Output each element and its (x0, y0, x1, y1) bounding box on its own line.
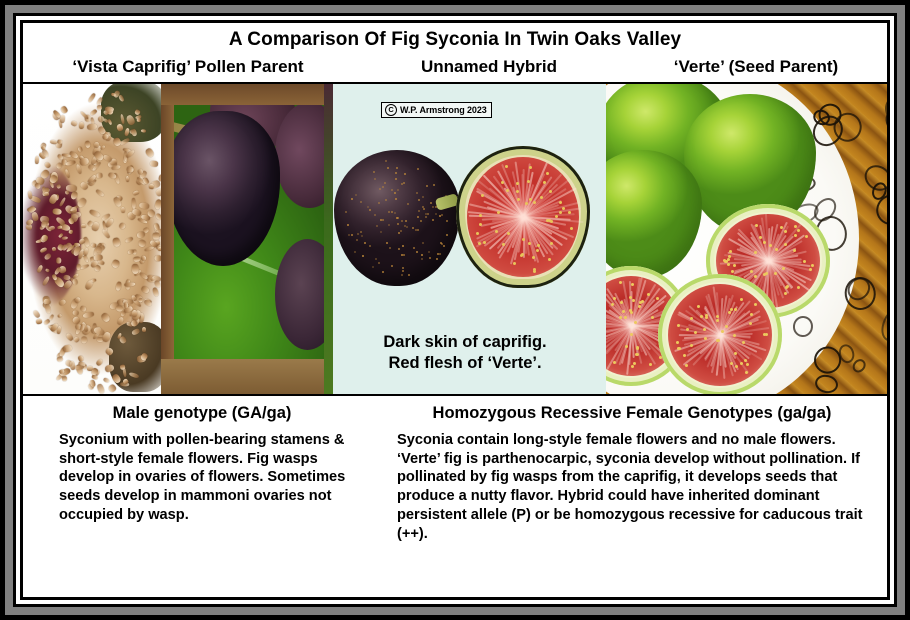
fig-seed (649, 363, 652, 366)
fig-seed (619, 281, 622, 284)
caprifig-floret (144, 147, 155, 159)
caprifig-floret (121, 207, 126, 213)
male-genotype-heading: Male genotype (GA/ga) (31, 404, 373, 431)
hybrid-fig-speck (402, 245, 404, 247)
fig-seed (797, 286, 800, 289)
hybrid-fig-speck (418, 210, 420, 212)
fig-seed (631, 365, 634, 368)
hybrid-fig-speck (406, 226, 408, 228)
caprifig-floret (72, 310, 79, 316)
caprifig-floret (32, 310, 41, 319)
fig-seed (537, 244, 540, 247)
fig-seed (481, 194, 484, 197)
hybrid-fig-speck (425, 216, 427, 218)
caprifig-floret (81, 224, 86, 228)
caprifig-floret (102, 377, 110, 384)
caprifig-floret (35, 156, 39, 164)
hybrid-fig-speck (402, 267, 404, 269)
caprifig-floret (80, 305, 87, 312)
fig-seed (730, 308, 733, 311)
fig-seed (697, 305, 700, 308)
fig-seed (728, 311, 731, 314)
caprifig-floret (83, 248, 89, 256)
male-genotype-column: Male genotype (GA/ga) Syconium with poll… (23, 404, 383, 597)
caprifig-floret (96, 384, 105, 394)
caprifig-floret (79, 122, 84, 129)
hybrid-fig-speck (378, 262, 380, 264)
caprifig-floret (82, 312, 93, 319)
hybrid-fig-speck (415, 229, 417, 231)
caprifig-floret (64, 169, 70, 179)
fig-seed (629, 296, 632, 299)
fig-seed (479, 214, 482, 217)
hybrid-fig-speck (407, 203, 409, 205)
hybrid-fig-speck (387, 167, 389, 169)
poster-outer-frame: A Comparison Of Fig Syconia In Twin Oaks… (0, 0, 910, 620)
caprifig-floret (138, 298, 142, 303)
fig-seed (529, 166, 532, 169)
hybrid-fig-speck (384, 182, 386, 184)
hybrid-fig-speck (446, 220, 448, 222)
caprifig-floret (39, 246, 47, 253)
caprifig-floret (89, 380, 95, 388)
hybrid-fig-speck (420, 220, 422, 222)
fig-seed (734, 308, 737, 311)
caprifig-floret (123, 302, 128, 308)
fig-seed (638, 305, 641, 308)
fig-seed (746, 363, 749, 366)
hybrid-fig-speck (423, 208, 425, 210)
caprifig-floret (90, 109, 98, 116)
caprifig-floret (43, 191, 48, 196)
hybrid-fig-speck (389, 247, 391, 249)
caprifig-floret (49, 225, 56, 231)
hybrid-fig-speck (395, 172, 397, 174)
fig-seed (555, 215, 558, 218)
fig-seed (686, 328, 689, 331)
hybrid-fig-speck (446, 234, 448, 236)
caprifig-floret (149, 184, 155, 190)
caprifig-floret (43, 161, 51, 169)
genotype-description-row: Male genotype (GA/ga) Syconium with poll… (23, 396, 887, 597)
caprifig-floret (96, 173, 102, 178)
fig-seed (811, 264, 814, 267)
caprifig-floret (100, 312, 111, 323)
hybrid-fig-speck (351, 234, 353, 236)
hybrid-fig-speck (422, 206, 424, 208)
hybrid-fig-speck (385, 199, 387, 201)
caprifig-floret (37, 265, 45, 274)
caprifig-floret (133, 256, 141, 261)
caprifig-floret (112, 237, 121, 247)
hybrid-fig-speck (401, 220, 403, 222)
hybrid-fig-speck (374, 178, 376, 180)
fig-seed (763, 333, 766, 336)
hybrid-fig-speck (397, 223, 399, 225)
fig-seed (755, 224, 758, 227)
hybrid-fig-speck (433, 184, 435, 186)
hybrid-fig-speck (401, 183, 403, 185)
caprifig-floret (68, 150, 79, 160)
caprifig-floret (87, 123, 98, 131)
fig-seed (690, 317, 693, 320)
fig-seed (733, 264, 736, 267)
caprifig-floret (132, 198, 136, 209)
photo-edge-left (161, 84, 174, 394)
fig-seed (476, 232, 479, 235)
fig-seed (529, 198, 532, 201)
hybrid-fig-speck (416, 251, 418, 253)
fig-seed (613, 361, 616, 364)
hybrid-fig-speck (375, 258, 377, 260)
hybrid-fig-speck (422, 242, 424, 244)
fig-seed (631, 283, 634, 286)
fig-seed (620, 301, 623, 304)
hybrid-fig-speck (427, 213, 429, 215)
hybrid-fig-speck (364, 242, 366, 244)
hybrid-fig-speck (380, 231, 382, 233)
caprifig-floret (126, 114, 137, 126)
hybrid-fig-speck (435, 213, 437, 215)
hybrid-fig-speck (360, 231, 362, 233)
hybrid-fig-speck (421, 258, 423, 260)
female-genotype-column: Homozygous Recessive Female Genotypes (g… (383, 404, 887, 597)
copyright-text: W.P. Armstrong 2023 (400, 105, 487, 115)
caprifig-floret (56, 258, 61, 264)
hybrid-fig-speck (391, 265, 393, 267)
caprifig-floret (87, 92, 96, 102)
caprifig-floret (140, 285, 150, 295)
caprifig-floret (116, 124, 124, 133)
fig-seed (528, 242, 531, 245)
caprifig-floret (95, 188, 105, 197)
caprifig-floret (65, 160, 76, 166)
caprifig-floret (35, 318, 42, 324)
hybrid-fig-speck (418, 199, 420, 201)
fig-seed (625, 345, 628, 348)
hybrid-fig-speck (422, 196, 424, 198)
poster-header: A Comparison Of Fig Syconia In Twin Oaks… (23, 23, 887, 82)
hybrid-fig-speck (354, 251, 356, 253)
caprifig-floret (84, 141, 90, 149)
fig-seed (527, 180, 530, 183)
caprifig-floret (72, 278, 78, 285)
fig-seed (727, 263, 730, 266)
hybrid-fig-speck (413, 247, 415, 249)
hybrid-fig-speck (416, 192, 418, 194)
caprifig-floret (78, 147, 84, 153)
copyright-notice: C W.P. Armstrong 2023 (381, 102, 492, 118)
fig-seed (683, 354, 686, 357)
caprifig-floret (131, 328, 140, 336)
caprifig-cutaway-photo (23, 84, 161, 394)
hybrid-red-flesh (467, 157, 579, 277)
hybrid-fig-speck (361, 235, 363, 237)
caprifig-floret (56, 183, 61, 188)
caprifig-floret (103, 117, 109, 122)
hybrid-fig-speck (379, 188, 381, 190)
fig-seed (559, 201, 562, 204)
caprifig-floret (68, 230, 73, 235)
caprifig-floret (129, 371, 140, 378)
hybrid-fig-speck (376, 225, 378, 227)
caprifig-floret (132, 264, 139, 274)
hybrid-fig-speck (417, 168, 419, 170)
column-title-row: ‘Vista Caprifig’ Pollen Parent Unnamed H… (23, 58, 887, 77)
fig-seed (483, 241, 486, 244)
hybrid-caption-line1: Dark skin of caprifig. (324, 332, 606, 353)
hybrid-fig-speck (345, 211, 347, 213)
fig-seed (705, 316, 708, 319)
caprifig-floret (73, 336, 80, 343)
caprifig-floret (61, 375, 67, 381)
poster-gray-frame: A Comparison Of Fig Syconia In Twin Oaks… (5, 5, 905, 615)
fig-seed (516, 182, 519, 185)
hybrid-fig-speck (397, 189, 399, 191)
caprifig-floret (56, 357, 63, 363)
fig-seed (676, 341, 679, 344)
fig-seed (731, 270, 734, 273)
caprifig-floret-layer (23, 84, 161, 394)
hybrid-fig-speck (388, 224, 390, 226)
verte-red-flesh-3 (668, 284, 772, 386)
photo-edge-top (161, 84, 324, 106)
fig-seed (805, 235, 808, 238)
female-genotype-heading: Homozygous Recessive Female Genotypes (g… (389, 404, 875, 431)
hybrid-fig-speck (441, 214, 443, 216)
fig-seed (641, 300, 644, 303)
hybrid-fig-speck (396, 167, 398, 169)
verte-fig-half-3 (658, 274, 782, 394)
hybrid-fig-speck (347, 224, 349, 226)
caprifig-floret (124, 282, 135, 287)
hybrid-fig-speck (378, 202, 380, 204)
caprifig-floret (79, 157, 89, 166)
fig-seed (521, 253, 524, 256)
caprifig-floret (138, 239, 147, 248)
hybrid-fig-speck (430, 202, 432, 204)
caprifig-floret (96, 358, 105, 367)
fig-seed (745, 371, 748, 374)
hybrid-fig-speck (408, 274, 410, 276)
hybrid-fig-speck (428, 251, 430, 253)
hybrid-fig-speck (403, 254, 405, 256)
hybrid-fig-speck (426, 185, 428, 187)
fig-seed (763, 241, 766, 244)
caprifig-floret (81, 335, 87, 343)
caprifig-floret (97, 105, 103, 111)
caprifig-floret (131, 128, 138, 136)
fig-seed (754, 275, 757, 278)
fig-seed (809, 268, 812, 271)
caprifig-floret (125, 237, 134, 244)
caprifig-floret (91, 279, 96, 283)
fig-seed (797, 229, 800, 232)
fig-seed (505, 165, 508, 168)
hybrid-fig-speck (400, 230, 402, 232)
hybrid-fig-speck (437, 253, 439, 255)
hybrid-fig-speck (404, 173, 406, 175)
caprifig-floret (55, 162, 62, 169)
fig-seed (704, 337, 707, 340)
fig-seed (734, 352, 737, 355)
hybrid-fig-speck (432, 219, 434, 221)
caprifig-floret (154, 255, 161, 261)
caprifig-floret (101, 229, 110, 239)
fig-seed (740, 298, 743, 301)
caprifig-floret (132, 310, 137, 317)
fig-seed (724, 260, 727, 263)
caprifig-floret (96, 97, 103, 106)
hybrid-fig-speck (396, 217, 398, 219)
hybrid-fig-speck (386, 242, 388, 244)
fig-seed (733, 334, 736, 337)
hybrid-fig-speck (398, 232, 400, 234)
fig-seed (784, 230, 787, 233)
fig-seed (677, 324, 680, 327)
caprifig-floret (58, 314, 63, 319)
fig-seed (729, 250, 732, 253)
caprifig-floret (107, 383, 117, 392)
hybrid-fig-speck (394, 192, 396, 194)
fig-seed (548, 219, 551, 222)
caprifig-floret (154, 198, 161, 209)
fig-seed (763, 273, 766, 276)
hybrid-fig-speck (403, 182, 405, 184)
fig-seed (536, 249, 539, 252)
poster-inner-black-frame: A Comparison Of Fig Syconia In Twin Oaks… (13, 13, 897, 607)
caprifig-floret (153, 232, 160, 239)
fig-seed (532, 256, 535, 259)
hybrid-fig-speck (395, 178, 397, 180)
caprifig-floret (44, 252, 53, 260)
caprifig-floret (142, 327, 147, 332)
hybrid-fig-speck (369, 245, 371, 247)
hybrid-fig-speck (373, 171, 375, 173)
caprifig-floret (105, 363, 116, 373)
hybrid-fig-speck (348, 234, 350, 236)
caprifig-floret (69, 361, 75, 371)
fig-seed (656, 297, 659, 300)
hybrid-fig-speck (362, 255, 364, 257)
caprifig-floret (118, 94, 125, 102)
hybrid-fig-speck (355, 194, 357, 196)
photo-edge-bottom (161, 359, 324, 393)
hybrid-fig-speck (382, 186, 384, 188)
hybrid-cut-fig (456, 146, 590, 288)
caprifig-on-tree-photo (161, 84, 324, 394)
caprifig-floret (117, 317, 125, 326)
hybrid-fig-speck (439, 253, 441, 255)
hybrid-whole-fig (334, 150, 460, 286)
hybrid-fig-speck (382, 271, 384, 273)
fig-seed (570, 227, 573, 230)
hybrid-fig-speck (382, 219, 384, 221)
fig-seed (754, 303, 757, 306)
fig-seed (690, 344, 693, 347)
hybrid-fig-speck (412, 227, 414, 229)
hybrid-fig-speck (367, 206, 369, 208)
fig-seed (506, 189, 509, 192)
hybrid-fig-speck (429, 257, 431, 259)
caprifig-floret (139, 202, 149, 209)
caprifig-floret (80, 263, 90, 270)
column-title-caprifig: ‘Vista Caprifig’ Pollen Parent (23, 58, 353, 77)
fig-seed (611, 303, 614, 306)
caprifig-floret (62, 344, 72, 352)
caprifig-floret (52, 208, 62, 215)
hybrid-fig-speck (398, 248, 400, 250)
fig-seed (794, 234, 797, 237)
copyright-icon: C (385, 104, 397, 116)
hybrid-fig-speck (357, 233, 359, 235)
caprifig-floret (104, 347, 114, 357)
caprifig-floret (60, 106, 68, 115)
fig-seed (619, 316, 622, 319)
fig-seed (784, 292, 787, 295)
fig-seed (525, 202, 528, 205)
caprifig-floret (105, 218, 115, 229)
fig-seed (546, 172, 549, 175)
male-genotype-description: Syconium with pollen-bearing stamens & s… (31, 431, 373, 526)
hybrid-fig-speck (405, 220, 407, 222)
fig-seed (750, 313, 753, 316)
fig-seed (533, 268, 536, 271)
female-genotype-description: Syconia contain long-style female flower… (389, 431, 875, 545)
poster-white-gap: A Comparison Of Fig Syconia In Twin Oaks… (16, 16, 894, 604)
caprifig-floret (111, 259, 120, 269)
caprifig-floret (150, 161, 158, 168)
caprifig-floret (45, 267, 50, 272)
hybrid-caption-line2: Red flesh of ‘Verte’. (324, 353, 606, 374)
caprifig-floret (41, 234, 49, 242)
hybrid-fig-speck (401, 274, 403, 276)
caprifig-floret (126, 175, 129, 181)
fig-seed (513, 262, 516, 265)
hybrid-fig-speck (417, 216, 419, 218)
photo-strip: C W.P. Armstrong 2023 Dark skin of capri… (23, 82, 887, 396)
hybrid-fig-speck (372, 266, 374, 268)
caprifig-floret (118, 222, 127, 231)
hybrid-fig-speck (374, 214, 376, 216)
hybrid-fig-speck (436, 258, 438, 260)
hybrid-fig-speck (385, 160, 387, 162)
caprifig-floret (60, 115, 66, 124)
fig-seed (636, 346, 639, 349)
caprifig-floret (113, 137, 122, 147)
caprifig-floret (136, 230, 145, 238)
caprifig-floret (58, 299, 66, 306)
caprifig-floret (52, 246, 57, 251)
fig-seed (548, 258, 551, 261)
hybrid-fig-speck (421, 254, 423, 256)
caprifig-floret (111, 165, 121, 171)
hybrid-fig-speck (391, 189, 393, 191)
caprifig-floret (61, 236, 68, 240)
caprifig-floret (88, 208, 100, 218)
caprifig-floret (42, 276, 51, 287)
hybrid-fig-speck (391, 211, 393, 213)
fig-seed (559, 211, 562, 214)
hybrid-fig-speck (395, 198, 397, 200)
hybrid-figs-photo: C W.P. Armstrong 2023 Dark skin of capri… (324, 84, 606, 394)
hybrid-fig-speck (432, 206, 434, 208)
hybrid-fig-speck (443, 245, 445, 247)
hybrid-fig-speck (369, 209, 371, 211)
fig-seed (803, 260, 806, 263)
column-title-hybrid: Unnamed Hybrid (353, 58, 625, 77)
hybrid-fig-speck (360, 201, 362, 203)
